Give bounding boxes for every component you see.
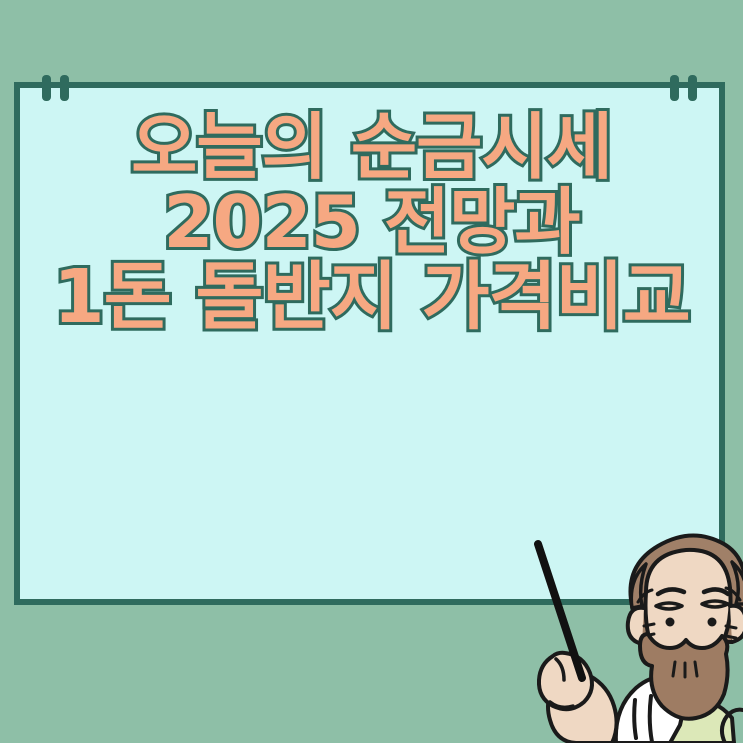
ear-right bbox=[730, 606, 743, 642]
eye-dot-left bbox=[666, 618, 675, 627]
beard-hatch-3 bbox=[695, 662, 697, 676]
ear-left bbox=[628, 608, 644, 644]
title-line-3: 1돈 돌반지 가격비교 bbox=[0, 259, 743, 336]
hair-lock-right bbox=[732, 562, 743, 604]
knuckle-line-1 bbox=[556, 659, 564, 680]
page-title: 오늘의 순금시세 2025 전망과 1돈 돌반지 가격비교 bbox=[0, 110, 743, 336]
cheek-line-3 bbox=[726, 626, 736, 628]
eye-dot-right bbox=[708, 618, 717, 627]
cheek-line-4 bbox=[726, 636, 736, 638]
title-line-1: 오늘의 순금시세 bbox=[0, 110, 743, 185]
shirt-fold-2 bbox=[650, 696, 652, 742]
board-clip-icon bbox=[42, 75, 51, 101]
title-line-2: 2025 전망과 bbox=[0, 185, 743, 260]
arm-shape bbox=[548, 672, 617, 743]
thumbnail-canvas: 오늘의 순금시세 2025 전망과 1돈 돌반지 가격비교 bbox=[0, 0, 743, 743]
hair-line-right bbox=[726, 588, 740, 600]
cheek-line-2 bbox=[644, 634, 654, 636]
beard-shape bbox=[640, 634, 728, 719]
knuckle-line-2 bbox=[573, 654, 580, 678]
thumb-line bbox=[550, 702, 573, 707]
shirt-shape bbox=[616, 676, 688, 743]
cheek-line-1 bbox=[644, 624, 654, 626]
board-clip-icon bbox=[670, 75, 679, 101]
robe-shape bbox=[641, 698, 734, 743]
beard-hatch-1 bbox=[673, 662, 675, 676]
robe-fold bbox=[722, 710, 743, 743]
shirt-fold-1 bbox=[634, 700, 636, 738]
hand-shape bbox=[539, 653, 592, 709]
board-clip-icon bbox=[60, 75, 69, 101]
board-clip-icon bbox=[688, 75, 697, 101]
